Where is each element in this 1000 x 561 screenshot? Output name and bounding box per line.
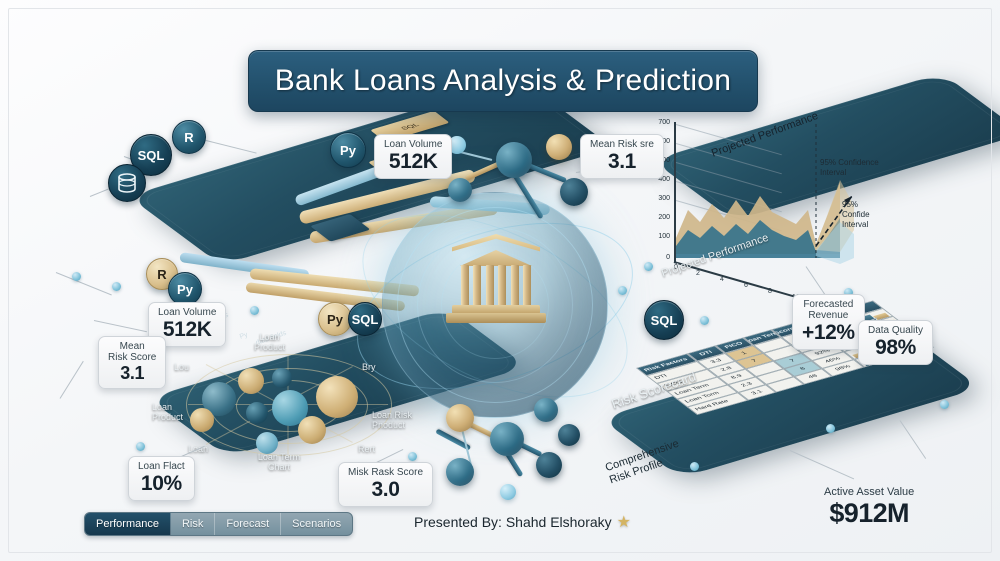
callout-misk-rask-score: Misk Rask Score 3.0 (338, 462, 433, 507)
connector-dot (618, 286, 627, 295)
connector-dot (826, 424, 835, 433)
callout-label: Loan Flact (138, 461, 185, 472)
radar-label-left: Loan Product (152, 402, 183, 422)
tab-scenarios[interactable]: Scenarios (281, 513, 352, 535)
badge-label: SQL (651, 313, 678, 328)
callout-value: 512K (158, 318, 216, 341)
connector-line (206, 140, 257, 154)
callout-loan-flact: Loan Flact 10% (128, 456, 195, 501)
connector-dot (250, 306, 259, 315)
molecule-node (558, 424, 580, 446)
connector-dot (112, 282, 121, 291)
callout-label: Revenue (802, 310, 855, 321)
connector-dot (136, 442, 145, 451)
ci-lower-annotation: 95% Confide Interval (842, 200, 870, 230)
bubble (272, 368, 292, 388)
x-tick: 4 (720, 276, 724, 283)
callout-value: 98% (868, 336, 923, 359)
callout-label: Loan Volume (384, 139, 442, 150)
radar-label-top: Loan Product (254, 332, 285, 352)
tab-risk[interactable]: Risk (171, 513, 215, 535)
sql-slab-1-label: SQL (399, 122, 420, 131)
callout-label: Forecasted (802, 299, 855, 310)
badge-r-top[interactable]: R (172, 120, 206, 154)
bubble (190, 408, 214, 432)
badge-label: R (157, 267, 166, 282)
molecule-node (560, 178, 588, 206)
callout-loan-volume-top: Loan Volume 512K (374, 134, 452, 179)
tab-forecast[interactable]: Forecast (215, 513, 281, 535)
callout-value: 3.1 (108, 363, 156, 383)
callout-mean-risk-top: Mean Risk sre 3.1 (580, 134, 664, 179)
badge-py-top[interactable]: Py (330, 132, 366, 168)
badge-py-left[interactable]: Py (168, 272, 202, 306)
callout-label: Risk Score (108, 352, 156, 363)
callout-value: 512K (384, 150, 442, 173)
page-title-text: Bank Loans Analysis & Prediction (275, 64, 732, 98)
molecule-node (448, 178, 472, 202)
page-title: Bank Loans Analysis & Prediction (248, 50, 758, 112)
connector-dot (644, 262, 653, 271)
callout-label: Loan Volume (158, 307, 216, 318)
molecule-node (446, 404, 474, 432)
callout-label: Misk Rask Score (348, 467, 423, 478)
radar-label-upper-right: Bry (362, 362, 376, 372)
callout-label: Mean (108, 341, 156, 352)
badge-sql-center[interactable]: SQL (348, 302, 382, 336)
molecule-node (546, 134, 572, 160)
tab-label: Risk (182, 518, 203, 530)
infographic-canvas: SQL SQL data data fields Py data fields (0, 0, 1000, 561)
bubble (238, 368, 264, 394)
connector-line (790, 450, 854, 479)
badge-sql-right[interactable]: SQL (644, 300, 684, 340)
callout-value: 3.0 (348, 478, 423, 501)
badge-label: Py (340, 143, 356, 158)
callout-value: $912M (824, 498, 914, 529)
database-icon (108, 164, 146, 202)
callout-value: 3.1 (590, 150, 654, 173)
badge-label: Py (177, 282, 193, 297)
badge-label: SQL (352, 312, 379, 327)
molecule-node (500, 484, 516, 500)
presenter-text: Presented By: Shahd Elshoraky (414, 514, 612, 530)
loan-term-radar-chart: Loan Product Lou Bry Loan Product Loan R… (176, 340, 400, 468)
connector-dot (408, 452, 417, 461)
callout-label: Mean Risk sre (590, 139, 654, 150)
connector-dot (72, 272, 81, 281)
badge-label: R (184, 130, 193, 145)
connector-dot (940, 400, 949, 409)
molecule-node (536, 452, 562, 478)
callout-data-quality: Data Quality 98% (858, 320, 933, 365)
callout-label: Data Quality (868, 325, 923, 336)
badge-label: SQL (138, 148, 165, 163)
molecule-node (490, 422, 524, 456)
bubble (316, 376, 358, 418)
connector-line (900, 420, 927, 459)
molecule-node (496, 142, 532, 178)
tab-label: Forecast (226, 518, 269, 530)
badge-label: Py (327, 312, 343, 327)
x-tick: 8 (768, 288, 772, 295)
ci-upper-annotation: 95% Confidence Interval (820, 158, 879, 178)
connector-line (56, 272, 112, 295)
molecule-node (534, 398, 558, 422)
tab-label: Performance (96, 518, 159, 530)
radar-label-right: Loan Risk Pnoduct (372, 410, 412, 430)
callout-value: 10% (138, 472, 185, 495)
connector-line (60, 361, 84, 399)
bubble (256, 432, 278, 454)
badge-py-center[interactable]: Py (318, 302, 352, 336)
bubble (246, 402, 268, 424)
callout-label: Active Asset Value (824, 486, 914, 498)
tab-label: Scenarios (292, 518, 341, 530)
bank-building-icon (450, 232, 542, 328)
radar-label-lower-right: Rert (358, 444, 375, 454)
radar-label-upper-left: Lou (174, 362, 189, 372)
x-tick: 6 (744, 282, 748, 289)
callout-active-asset-value: Active Asset Value $912M (824, 486, 914, 529)
loan-term-chart-caption: Loan Term Chart (244, 452, 314, 472)
connector-line (94, 320, 147, 332)
presenter-credit: Presented By: Shahd Elshoraky ★ (414, 512, 631, 532)
connector-dot (700, 316, 709, 325)
connector-dot (690, 462, 699, 471)
x-tick: 2 (696, 270, 700, 277)
callout-forecasted-revenue: Forecasted Revenue +12% (792, 294, 865, 350)
molecule-node (446, 458, 474, 486)
tab-performance[interactable]: Performance (85, 513, 171, 535)
tab-bar[interactable]: Performance Risk Forecast Scenarios (84, 512, 353, 536)
star-icon: ★ (617, 512, 631, 532)
callout-mean-risk-left: Mean Risk Score 3.1 (98, 336, 166, 389)
bubble (298, 416, 326, 444)
callout-value: +12% (802, 321, 855, 344)
